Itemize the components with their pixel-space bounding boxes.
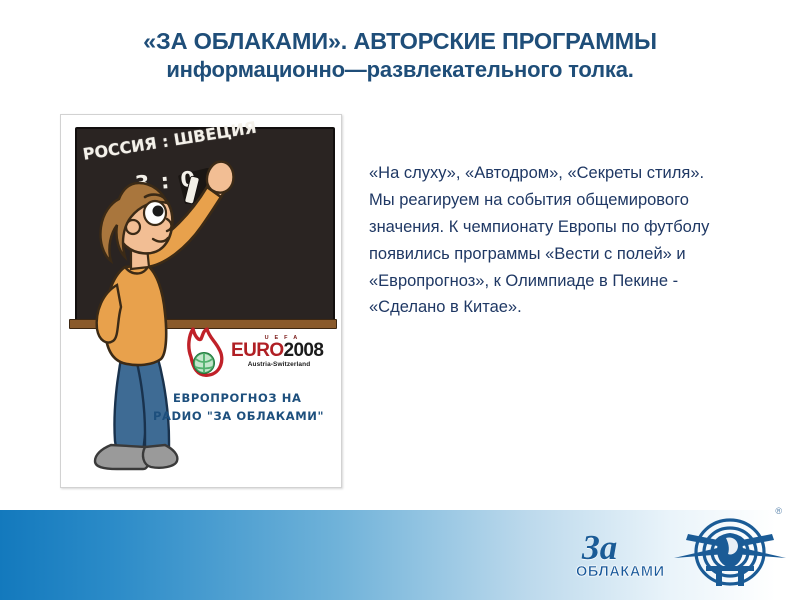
euro-year: 2008 bbox=[284, 340, 324, 361]
cartoon-illustration-frame: РОССИЯ : ШВЕЦИЯ 3 : 0 bbox=[60, 114, 342, 488]
page-title-line-2: информационно—развлекательного толка. bbox=[40, 56, 760, 84]
euro-word: EURO bbox=[231, 340, 284, 361]
brand-word-za: За bbox=[582, 528, 617, 568]
brand-logo: За ОБЛАКАМИ ® bbox=[568, 506, 788, 600]
page-title: «ЗА ОБЛАКАМИ». АВТОРСКИЕ ПРОГРАММЫ инфор… bbox=[40, 26, 760, 84]
euro-wordmark: EURO2008 bbox=[231, 341, 331, 360]
euro-flame-icon bbox=[181, 327, 227, 377]
boy-character-illustration bbox=[61, 115, 341, 487]
airplane-globe-emblem-icon bbox=[672, 508, 788, 600]
body-paragraph: «На слуху», «Автодром», «Секреты стиля».… bbox=[369, 160, 721, 321]
brand-word-oblakami: ОБЛАКАМИ bbox=[576, 564, 665, 580]
euro-2008-text: U E F A EURO2008 Austria-Switzerland bbox=[231, 335, 331, 368]
page-title-line-1: «ЗА ОБЛАКАМИ». АВТОРСКИЕ ПРОГРАММЫ bbox=[40, 26, 760, 56]
caption-line-2: РАDИО "ЗА ОБЛАКАМИ" bbox=[153, 409, 324, 423]
euro-hosts-label: Austria-Switzerland bbox=[231, 361, 327, 368]
euro-2008-logo: U E F A EURO2008 Austria-Switzerland bbox=[181, 327, 331, 379]
caption-line-1: ЕВРОПРОГНОЗ НА bbox=[173, 391, 301, 405]
cartoon-illustration: РОССИЯ : ШВЕЦИЯ 3 : 0 bbox=[61, 115, 341, 487]
